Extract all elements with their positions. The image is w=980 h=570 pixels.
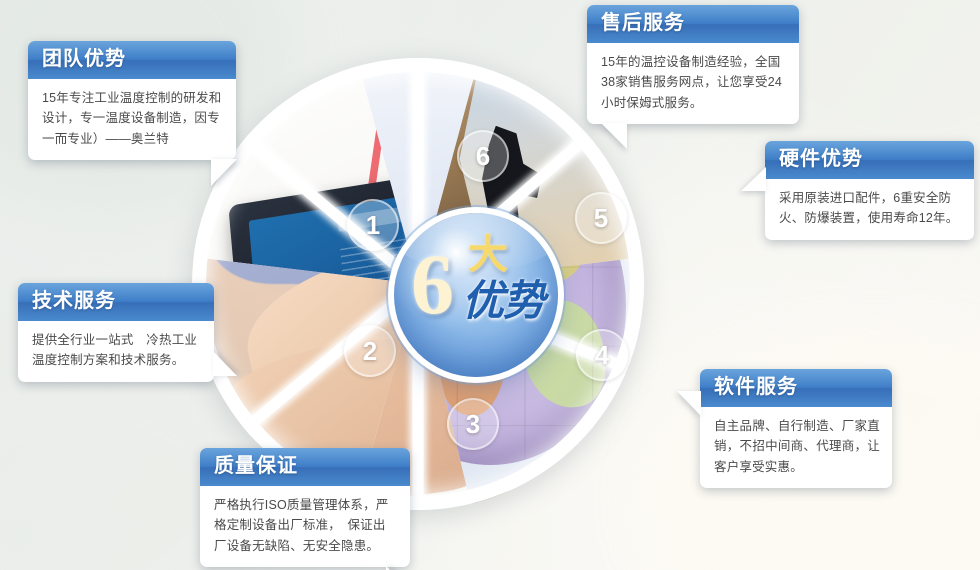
- card-after-sales-body: 15年的温控设备制造经验，全国38家销售服务网点，让您享受24小时保姆式服务。: [587, 43, 799, 124]
- card-software-body: 自主品牌、自行制造、厂家直销，不招中间商、代理商，让客户享受实惠。: [700, 407, 892, 488]
- card-quality-assurance[interactable]: 质量保证 严格执行ISO质量管理体系，严格定制设备出厂标准， 保证出厂设备无缺陷…: [200, 448, 410, 567]
- card-after-sales[interactable]: 售后服务 15年的温控设备制造经验，全国38家销售服务网点，让您享受24小时保姆…: [587, 5, 799, 124]
- card-hardware-title: 硬件优势: [765, 141, 974, 179]
- segment-number-6-label: 6: [476, 141, 490, 172]
- card-team-advantage[interactable]: 团队优势 15年专注工业温度控制的研发和设计，专一温度设备制造，因专一而专业）—…: [28, 41, 236, 160]
- card-hardware-body: 采用原装进口配件，6重安全防火、防爆装置，使用寿命12年。: [765, 179, 974, 240]
- center-unit-char: 大: [468, 235, 508, 275]
- card-software-title: 软件服务: [700, 369, 892, 407]
- segment-number-4[interactable]: 4: [576, 329, 628, 381]
- segment-number-5[interactable]: 5: [575, 192, 627, 244]
- segment-number-4-label: 4: [595, 340, 609, 371]
- card-quality-tail: [386, 566, 411, 570]
- card-after-sales-title: 售后服务: [587, 5, 799, 43]
- card-technical-service[interactable]: 技术服务 提供全行业一站式 冷热工业温度控制方案和技术服务。: [18, 283, 214, 382]
- card-hardware-tail: [741, 167, 766, 191]
- card-team-body: 15年专注工业温度控制的研发和设计，专一温度设备制造，因专一而专业）——奥兰特: [28, 79, 236, 160]
- segment-number-3-label: 3: [466, 409, 480, 440]
- segment-number-5-label: 5: [594, 203, 608, 234]
- card-quality-body: 严格执行ISO质量管理体系，严格定制设备出厂标准， 保证出厂设备无缺陷、无安全隐…: [200, 486, 410, 567]
- card-tech-title: 技术服务: [18, 283, 214, 321]
- card-team-title: 团队优势: [28, 41, 236, 79]
- card-software-service[interactable]: 软件服务 自主品牌、自行制造、厂家直销，不招中间商、代理商，让客户享受实惠。: [700, 369, 892, 488]
- card-tech-body: 提供全行业一站式 冷热工业温度控制方案和技术服务。: [18, 321, 214, 382]
- segment-number-1-label: 1: [366, 210, 380, 241]
- card-hardware-advantage[interactable]: 硬件优势 采用原装进口配件，6重安全防火、防爆装置，使用寿命12年。: [765, 141, 974, 240]
- segment-number-1[interactable]: 1: [347, 199, 399, 251]
- segment-number-2-label: 2: [363, 336, 377, 367]
- segment-number-6[interactable]: 6: [457, 130, 509, 182]
- card-software-tail: [677, 391, 701, 416]
- center-word: 优势: [462, 279, 544, 323]
- card-after-sales-tail: [601, 123, 627, 149]
- center-number: 6: [411, 241, 452, 327]
- segment-number-2[interactable]: 2: [344, 325, 396, 377]
- card-team-tail: [211, 159, 237, 186]
- card-quality-title: 质量保证: [200, 448, 410, 486]
- infographic-canvas: 1 2 3 4 5 6 6 大 优势 团队优势 15年专注工业温度控制的研发和设…: [0, 0, 980, 570]
- segment-number-3[interactable]: 3: [447, 398, 499, 450]
- center-badge: 6 大 优势: [394, 213, 558, 377]
- card-tech-tail: [213, 351, 237, 376]
